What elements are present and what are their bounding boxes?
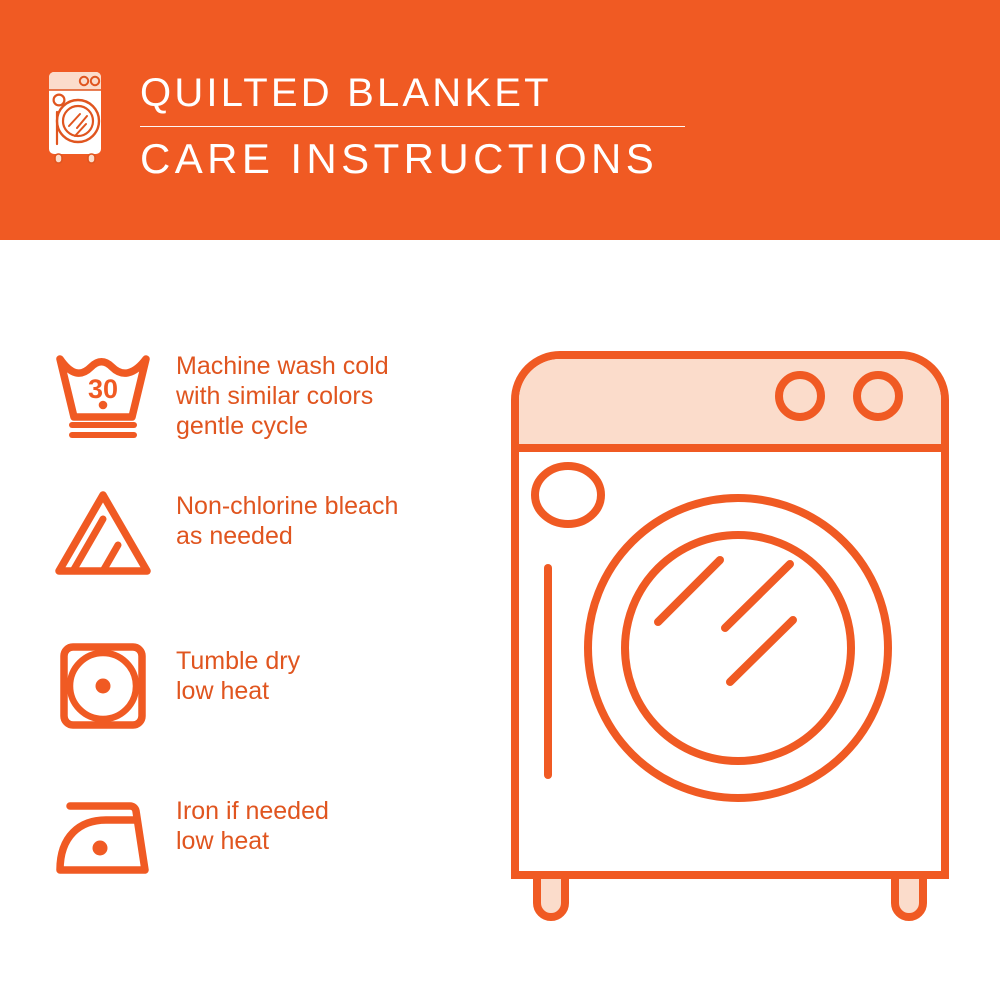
care-line: low heat [176, 676, 300, 706]
wash-tub-30-gentle-icon: 30 [48, 345, 170, 440]
care-line: low heat [176, 826, 329, 856]
care-line: Non-chlorine bleach [176, 491, 398, 521]
tumble-dry-low-heat-icon [48, 640, 170, 735]
header-banner: QUILTED BLANKET CARE INSTRUCTIONS [0, 0, 1000, 240]
care-text-bleach: Non-chlorine bleach as needed [176, 485, 398, 551]
care-row-iron: Iron if needed low heat [48, 790, 478, 885]
front-load-washing-machine-illustration [490, 330, 970, 940]
care-line: with similar colors [176, 381, 389, 411]
care-line: Tumble dry [176, 646, 300, 676]
care-line: Iron if needed [176, 796, 329, 826]
non-chlorine-bleach-triangle-icon [48, 485, 170, 580]
care-row-bleach: Non-chlorine bleach as needed [48, 485, 478, 580]
care-instruction-list: 30 Machine wash cold with similar colors… [0, 240, 480, 1000]
header-title-group: QUILTED BLANKET CARE INSTRUCTIONS [140, 68, 700, 185]
care-text-machine-wash: Machine wash cold with similar colors ge… [176, 345, 389, 441]
leg-left [537, 875, 565, 917]
title-divider [140, 126, 685, 127]
page-title-secondary: CARE INSTRUCTIONS [140, 133, 700, 185]
washing-machine-icon [44, 66, 106, 166]
care-text-tumble-dry: Tumble dry low heat [176, 640, 300, 706]
care-row-tumble-dry: Tumble dry low heat [48, 640, 478, 735]
page-title-primary: QUILTED BLANKET [140, 68, 700, 118]
wash-temperature-label: 30 [88, 374, 118, 404]
care-line: as needed [176, 521, 398, 551]
care-instructions-infographic: QUILTED BLANKET CARE INSTRUCTIONS 30 Mac… [0, 0, 1000, 1000]
care-text-iron: Iron if needed low heat [176, 790, 329, 856]
care-row-machine-wash: 30 Machine wash cold with similar colors… [48, 345, 478, 441]
leg-right [895, 875, 923, 917]
care-line: gentle cycle [176, 411, 389, 441]
iron-low-heat-icon [48, 790, 170, 885]
care-line: Machine wash cold [176, 351, 389, 381]
